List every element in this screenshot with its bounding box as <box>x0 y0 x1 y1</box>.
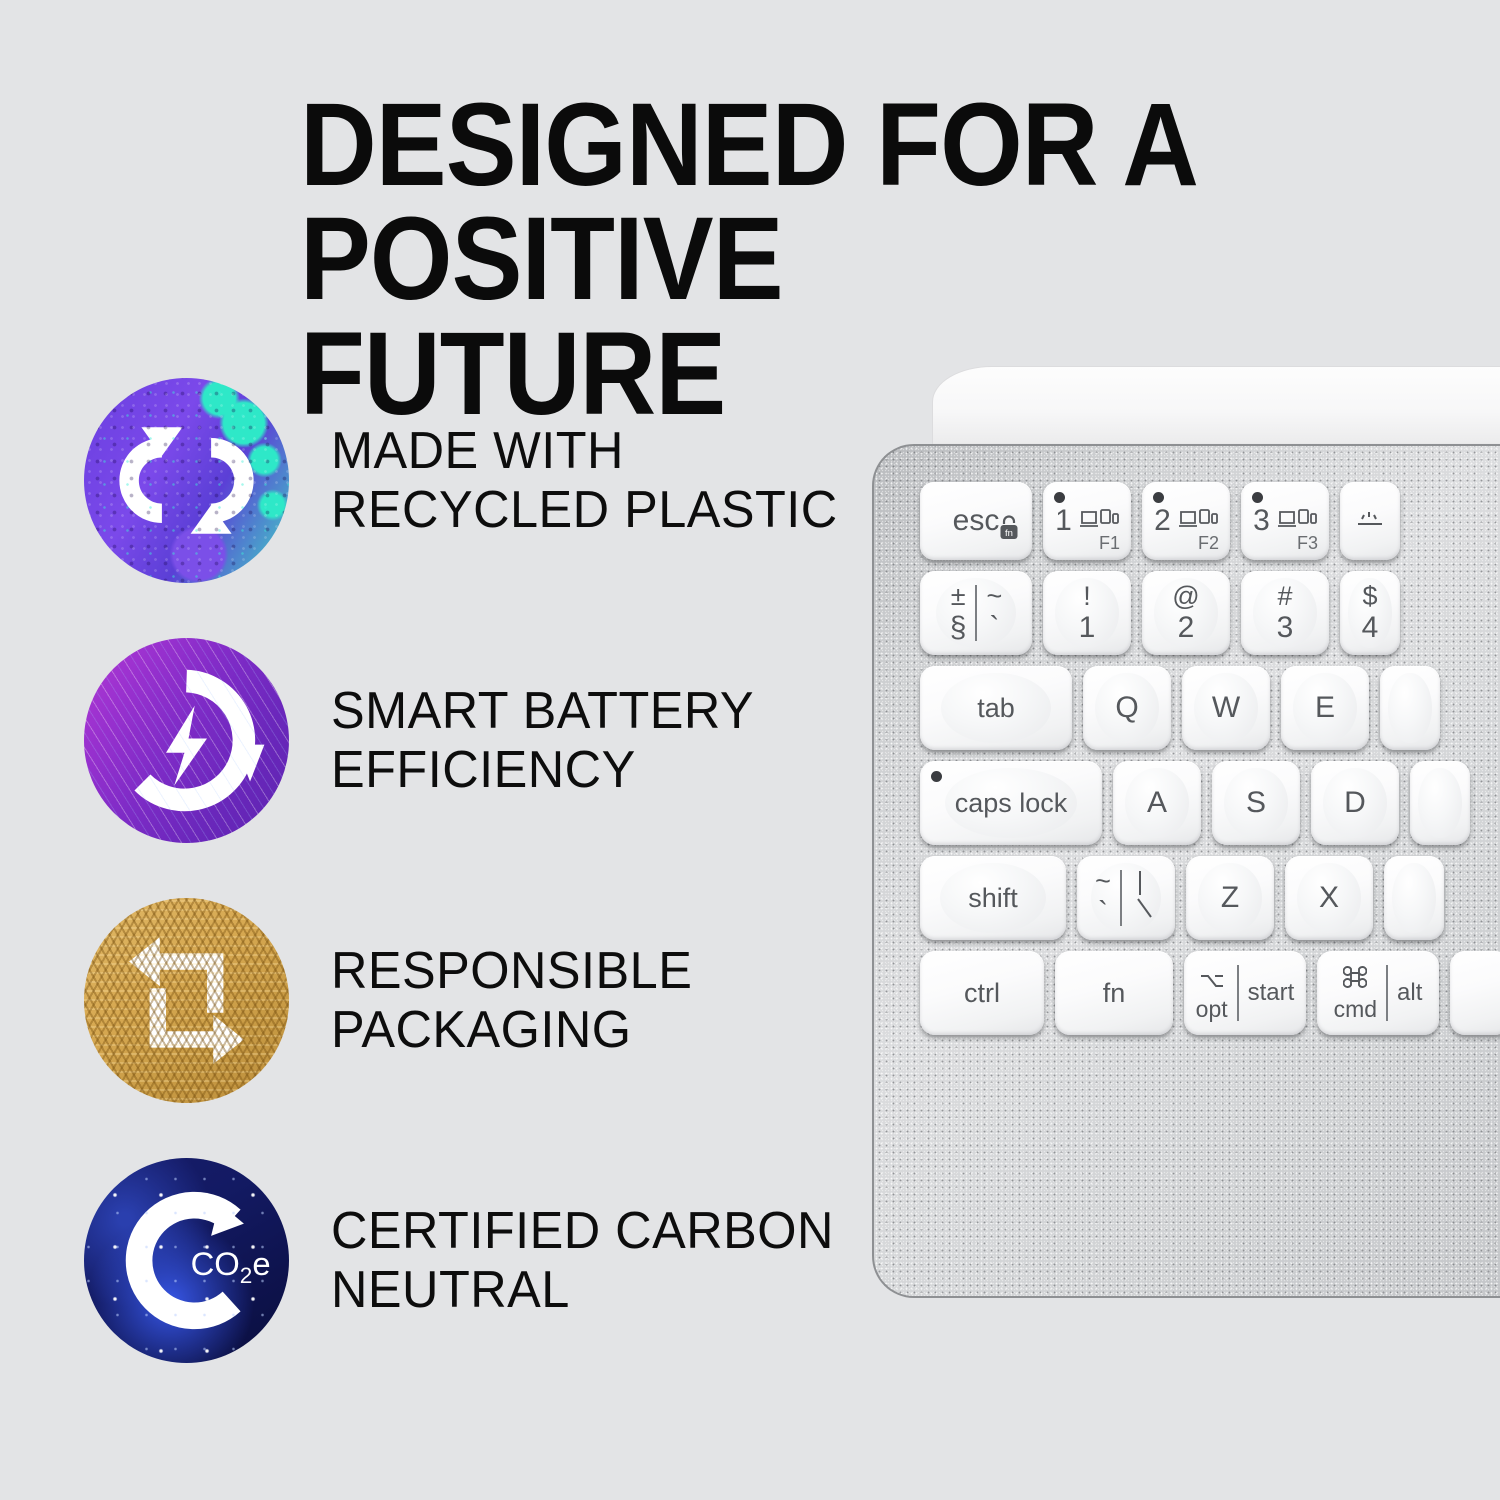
f-key-label: F2 <box>1198 533 1219 554</box>
key-esc[interactable]: esc fn <box>920 482 1032 560</box>
led-indicator <box>1054 492 1065 503</box>
fn-lock-icon: fn <box>996 515 1022 551</box>
f-key-label: F1 <box>1099 533 1120 554</box>
keyboard-body: esc fn 1 <box>872 444 1500 1298</box>
battery-lightning-refresh-icon <box>84 638 289 843</box>
key-w[interactable]: W <box>1182 666 1270 750</box>
key-d[interactable]: D <box>1311 761 1399 845</box>
key-section[interactable]: ± § ~ ` <box>920 571 1032 655</box>
key-fn[interactable]: fn <box>1055 951 1173 1035</box>
key-shift[interactable]: shift <box>920 856 1066 940</box>
key-divider <box>1237 965 1239 1021</box>
keyboard-row-modifiers: ctrl fn opt <box>920 951 1500 1035</box>
key-e[interactable]: E <box>1281 666 1369 750</box>
keyboard-product-image: esc fn 1 <box>872 366 1500 1296</box>
keyboard-row-home: caps lock A S D <box>920 761 1500 845</box>
key-iso-backslash[interactable]: ~ ` <box>1077 856 1175 940</box>
badge-label: MADE WITH RECYCLED PLASTIC <box>331 422 838 538</box>
led-indicator <box>931 771 942 782</box>
key-z[interactable]: Z <box>1186 856 1274 940</box>
key-cmd-alt[interactable]: cmd alt <box>1317 951 1439 1035</box>
key-tab[interactable]: tab <box>920 666 1072 750</box>
carbon-neutral-co2e-icon: CO2e <box>84 1158 289 1363</box>
keyboard-back-panel <box>932 366 1500 449</box>
key-a[interactable]: A <box>1113 761 1201 845</box>
key-x[interactable]: X <box>1285 856 1373 940</box>
key-f[interactable] <box>1410 761 1470 845</box>
f-key-label: F3 <box>1297 533 1318 554</box>
badge-made-with-recycled-plastic: MADE WITH RECYCLED PLASTIC <box>84 368 864 593</box>
key-divider <box>1120 870 1122 926</box>
key-c[interactable] <box>1384 856 1444 940</box>
key-r[interactable] <box>1380 666 1440 750</box>
key-q[interactable]: Q <box>1083 666 1171 750</box>
badge-label: RESPONSIBLE PACKAGING <box>331 942 692 1058</box>
key-3[interactable]: # 3 <box>1241 571 1329 655</box>
key-easyswitch-2[interactable]: 2 F2 <box>1142 482 1230 560</box>
key-easyswitch-3[interactable]: 3 F3 <box>1241 482 1329 560</box>
key-4[interactable]: $ 4 <box>1340 571 1400 655</box>
keyboard-row-function: esc fn 1 <box>920 482 1500 560</box>
sustainability-badge-list: MADE WITH RECYCLED PLASTIC SMART BATTERY… <box>84 368 864 1373</box>
key-opt-start[interactable]: opt start <box>1184 951 1306 1035</box>
badge-smart-battery-efficiency: SMART BATTERY EFFICIENCY <box>84 628 864 853</box>
badge-label: CERTIFIED CARBON NEUTRAL <box>331 1202 834 1318</box>
key-space[interactable] <box>1450 951 1500 1035</box>
key-divider <box>1386 965 1388 1021</box>
key-ctrl[interactable]: ctrl <box>920 951 1044 1035</box>
keyboard-row-qwerty: tab Q W E <box>920 666 1500 750</box>
command-icon <box>1343 963 1367 997</box>
svg-text:fn: fn <box>1005 528 1013 539</box>
recycled-plastic-loop-icon <box>84 378 289 583</box>
key-s[interactable]: S <box>1212 761 1300 845</box>
svg-text:CO2e: CO2e <box>191 1245 271 1288</box>
badge-label: SMART BATTERY EFFICIENCY <box>331 682 754 798</box>
key-1[interactable]: ! 1 <box>1043 571 1131 655</box>
key-divider <box>975 585 977 641</box>
pipe-backslash-icon <box>1131 865 1157 931</box>
badge-responsible-packaging: RESPONSIBLE PACKAGING <box>84 888 864 1113</box>
led-indicator <box>1153 492 1164 503</box>
led-indicator <box>1252 492 1263 503</box>
option-icon <box>1199 963 1225 997</box>
keyboard-row-numbers: ± § ~ ` ! 1 <box>920 571 1500 655</box>
badge-certified-carbon-neutral: CO2e CERTIFIED CARBON NEUTRAL <box>84 1148 864 1373</box>
packaging-recycle-square-icon <box>84 898 289 1103</box>
keyboard-row-shift: shift ~ ` <box>920 856 1500 940</box>
backlight-icon <box>1353 504 1387 538</box>
key-easyswitch-1[interactable]: 1 F1 <box>1043 482 1131 560</box>
key-caps-lock[interactable]: caps lock <box>920 761 1102 845</box>
key-backlight[interactable] <box>1340 482 1400 560</box>
key-2[interactable]: @ 2 <box>1142 571 1230 655</box>
